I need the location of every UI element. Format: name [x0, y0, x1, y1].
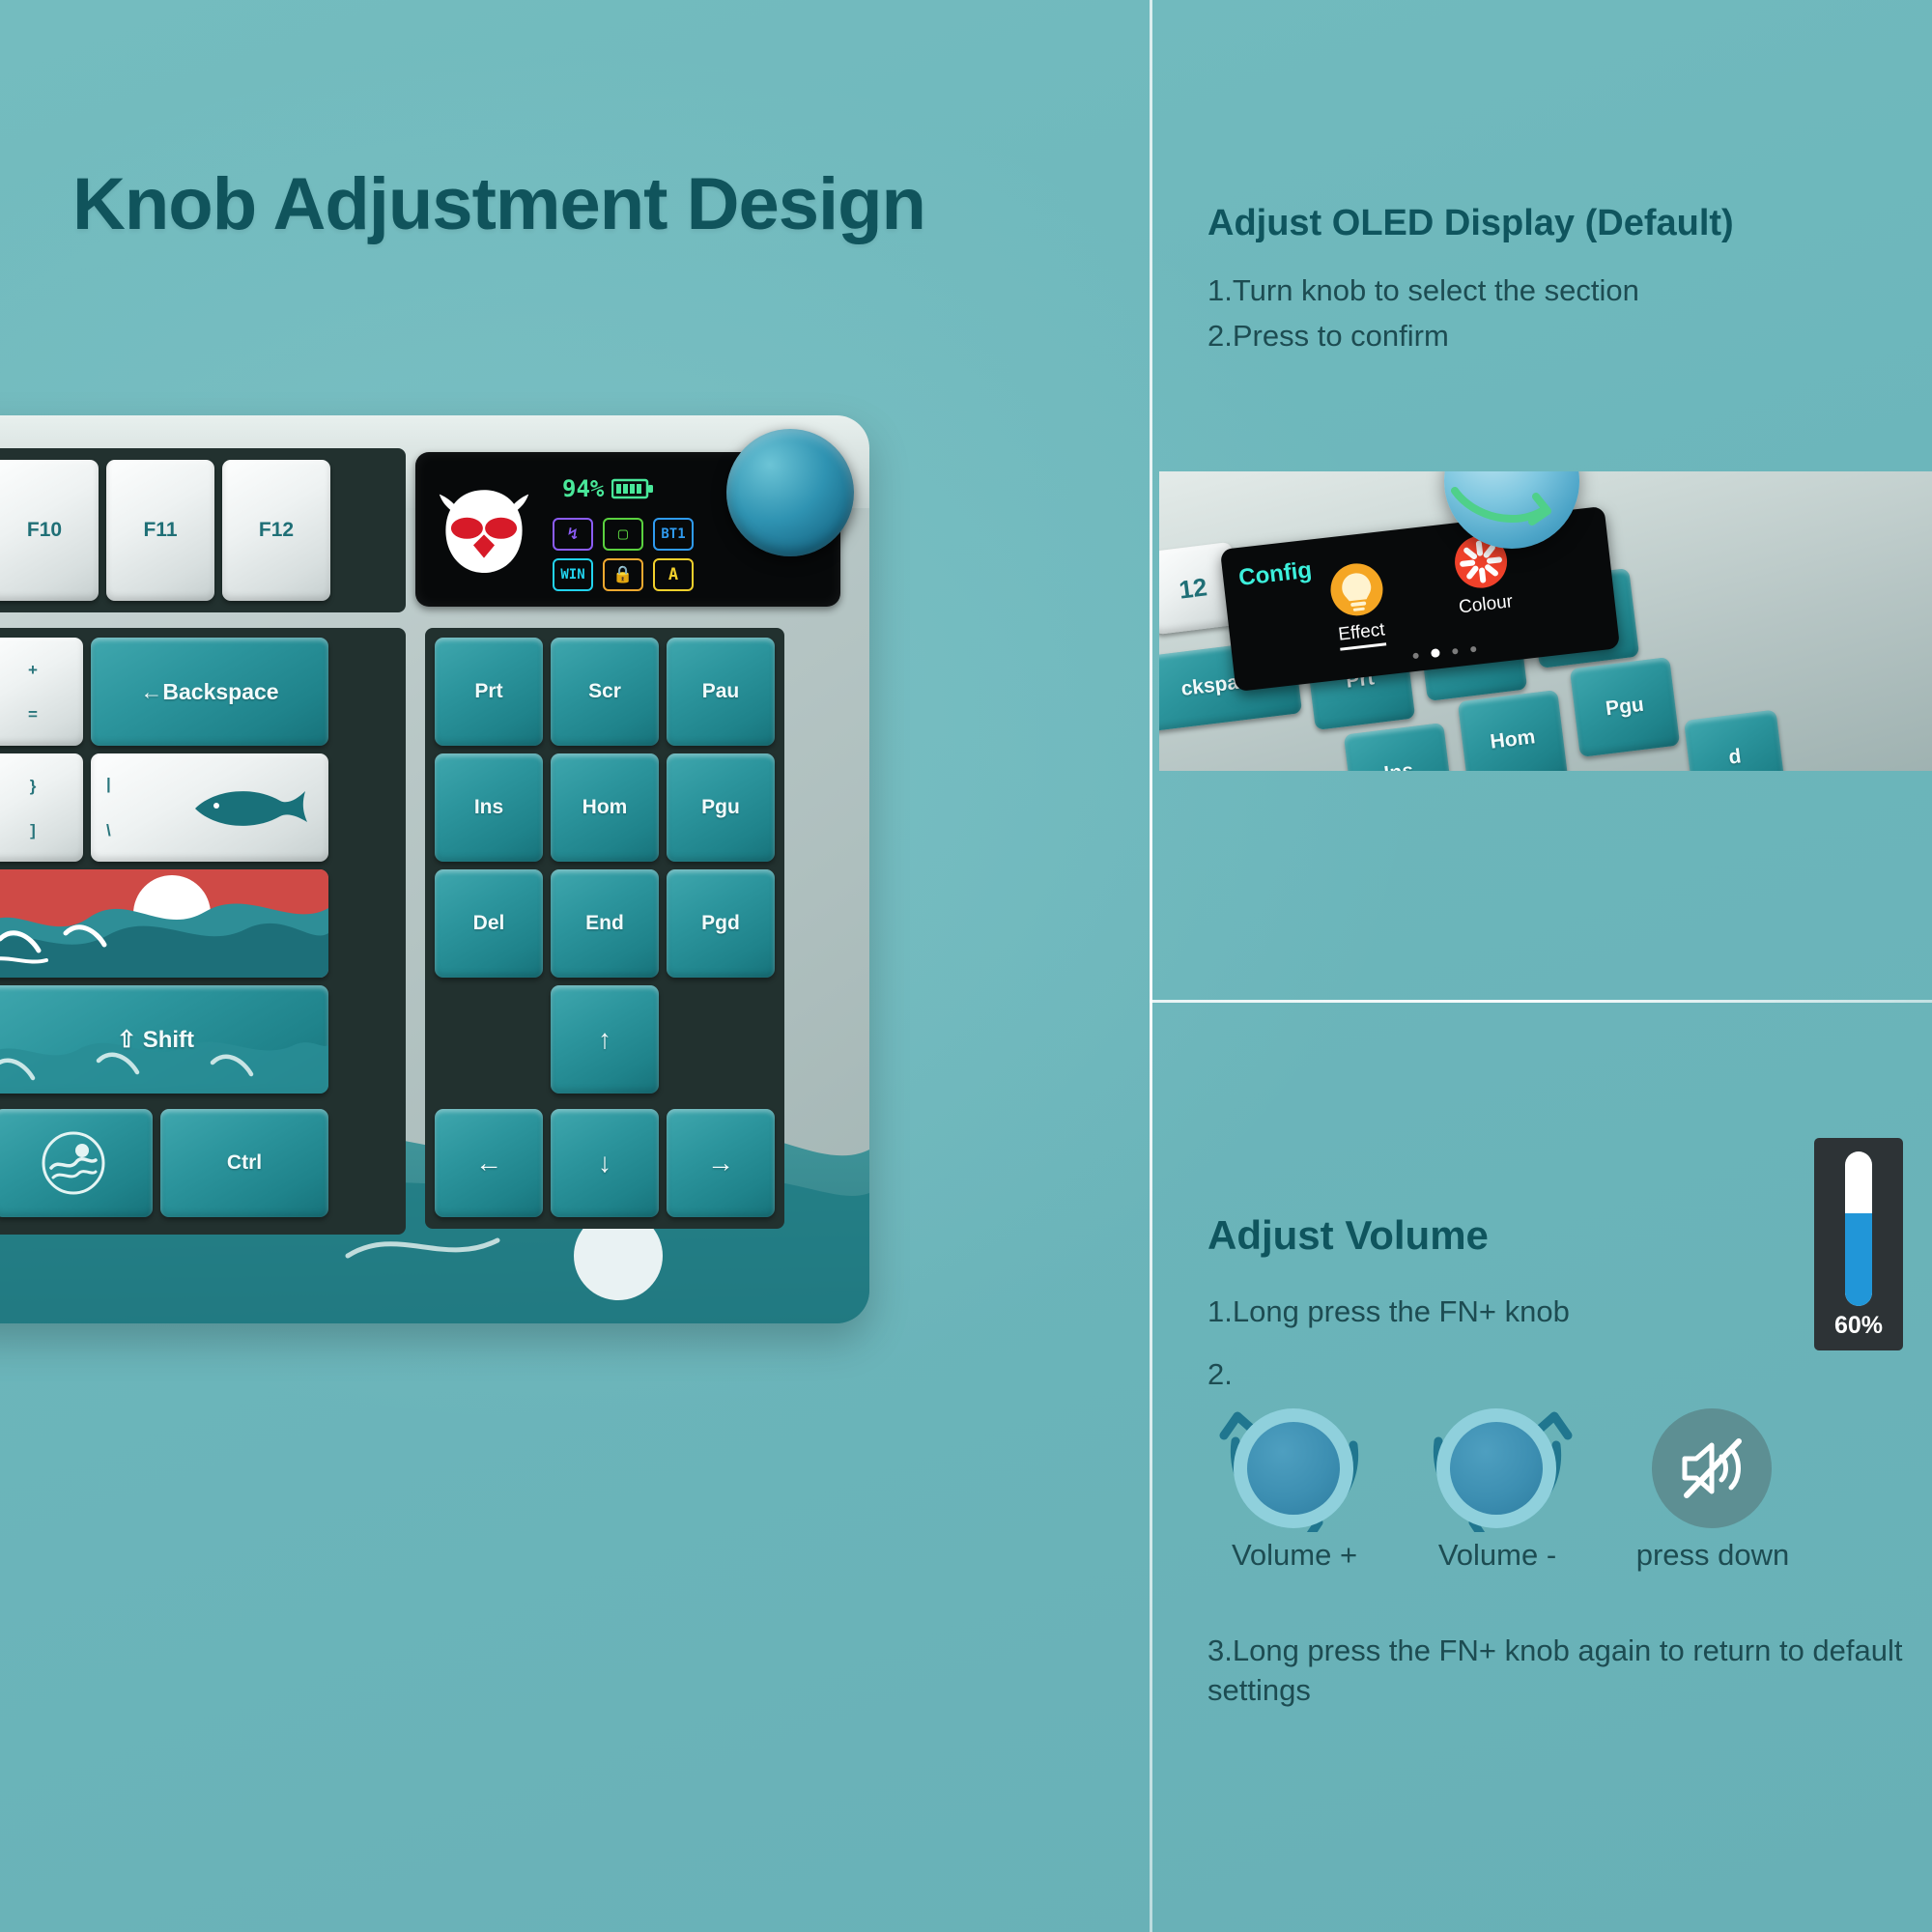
key-wave-art[interactable]: [0, 869, 328, 978]
volume-slider-track[interactable]: [1845, 1151, 1872, 1306]
rotary-knob[interactable]: [726, 429, 854, 556]
oled-step-2: 2.Press to confirm: [1207, 319, 1449, 354]
volume-percent-label: 60%: [1834, 1312, 1883, 1340]
key-arrow-down[interactable]: ↓: [551, 1109, 659, 1217]
key-label: Ctrl: [227, 1151, 262, 1175]
oled-page-dots: [1412, 644, 1477, 660]
volume-knob[interactable]: [1234, 1408, 1353, 1528]
key-arrow-right[interactable]: →: [667, 1109, 775, 1217]
key-ctrl[interactable]: Ctrl: [160, 1109, 328, 1217]
wave-logo-icon: [40, 1129, 107, 1197]
key-pgu[interactable]: Pgu: [667, 753, 775, 862]
key-f12[interactable]: F12: [222, 460, 330, 601]
oled-config-photo: 12 ckspace Prt Scr Pau Ins Hom Pgu: [1159, 471, 1932, 771]
battery-icon: [611, 477, 656, 500]
oled-config-title: Config: [1237, 557, 1314, 592]
key-label: Hom: [582, 796, 628, 819]
mute-button[interactable]: [1652, 1408, 1772, 1528]
key-label: +: [28, 661, 38, 680]
key-label: Prt: [474, 680, 502, 703]
key-label: Pgu: [701, 796, 740, 819]
mute-speaker-icon: [1671, 1428, 1752, 1509]
key-label: 12: [1178, 572, 1208, 605]
volume-step-1: 1.Long press the FN+ knob: [1207, 1294, 1570, 1329]
oled-panel-heading: Adjust OLED Display (Default): [1207, 203, 1734, 244]
key-label: Ins: [1382, 759, 1414, 771]
volume-knob[interactable]: [1436, 1408, 1556, 1528]
key-label: Scr: [588, 680, 621, 703]
key-shift[interactable]: ⇧ Shift: [0, 985, 328, 1094]
volume-knob-inner: [1450, 1422, 1543, 1515]
volume-level-indicator: 60%: [1814, 1138, 1903, 1350]
key-pgd[interactable]: Pgd: [667, 869, 775, 978]
key-arrow-up[interactable]: ↑: [551, 985, 659, 1094]
key-right-brace[interactable]: } ]: [0, 753, 83, 862]
oled-menu-label: Colour: [1432, 588, 1540, 621]
key-backspace[interactable]: ←Backspace: [91, 638, 328, 746]
oled-status-badges: ↯ ▢ BT1 WIN 🔒 A: [553, 518, 707, 595]
inset-key-pgu[interactable]: Pgu: [1570, 657, 1680, 757]
vertical-divider-main: [1150, 0, 1152, 1932]
key-arrow-left[interactable]: ←: [435, 1109, 543, 1217]
key-hom[interactable]: Hom: [551, 753, 659, 862]
key-label-alt: =: [28, 705, 38, 724]
horizontal-divider-right: [1150, 1000, 1932, 1003]
key-label: F11: [143, 519, 177, 542]
volume-step-3: 3.Long press the FN+ knob again to retur…: [1207, 1631, 1922, 1710]
key-label: Pau: [702, 680, 740, 703]
page-dot-active: [1431, 648, 1440, 658]
page-dot: [1470, 645, 1477, 652]
key-label: F10: [27, 519, 62, 542]
key-label: ⇧ Shift: [117, 1026, 194, 1054]
fish-icon: [187, 780, 313, 836]
key-label: Ins: [474, 796, 503, 819]
battery-percent: 94%: [562, 475, 604, 502]
press-down-label: press down: [1631, 1538, 1795, 1573]
volume-down-control[interactable]: Volume -: [1415, 1403, 1579, 1586]
a-badge: A: [653, 558, 694, 591]
key-label: |: [106, 775, 111, 794]
page-dot: [1452, 647, 1459, 654]
key-f10[interactable]: F10: [0, 460, 99, 601]
volume-knob-inner: [1247, 1422, 1340, 1515]
page-title: Knob Adjustment Design: [72, 162, 925, 246]
lightbulb-icon: [1325, 558, 1387, 620]
volume-up-label: Volume +: [1212, 1538, 1377, 1573]
key-label-alt: ]: [30, 821, 36, 840]
inset-key-hom[interactable]: Hom: [1458, 690, 1568, 771]
key-end[interactable]: End: [551, 869, 659, 978]
oled-menu-label: Effect: [1337, 619, 1386, 650]
volume-slider-fill: [1845, 1213, 1872, 1306]
keyboard-case: 94% ↯ ▢ BT1: [0, 415, 869, 1323]
caps-lock-icon: 🔒: [603, 558, 643, 591]
usb-icon: ↯: [553, 518, 593, 551]
owl-logo-icon: [431, 477, 537, 583]
key-label: ←: [475, 1148, 502, 1179]
key-f11[interactable]: F11: [106, 460, 214, 601]
key-label: →: [707, 1148, 734, 1179]
oled-menu-item-effect[interactable]: Effect: [1306, 556, 1412, 654]
key-label: ↓: [598, 1148, 611, 1179]
key-del[interactable]: Del: [435, 869, 543, 978]
oled-step-1: 1.Turn knob to select the section: [1207, 273, 1639, 308]
bt1-badge: BT1: [653, 518, 694, 551]
volume-step-2-number: 2.: [1207, 1357, 1233, 1392]
inset-key-pgd[interactable]: d: [1684, 709, 1786, 771]
key-label: Hom: [1489, 725, 1536, 754]
key-label: Pgu: [1605, 694, 1645, 722]
key-backslash-fish[interactable]: | \: [91, 753, 328, 862]
key-prt[interactable]: Prt: [435, 638, 543, 746]
key-plus[interactable]: + =: [0, 638, 83, 746]
key-label: Del: [473, 912, 505, 935]
page-dot: [1412, 652, 1419, 659]
volume-panel-heading: Adjust Volume: [1207, 1212, 1489, 1259]
mute-control[interactable]: press down: [1631, 1403, 1795, 1586]
key-pau[interactable]: Pau: [667, 638, 775, 746]
volume-up-control[interactable]: Volume +: [1212, 1403, 1377, 1586]
inset-key-ins[interactable]: Ins: [1344, 723, 1454, 771]
key-ins[interactable]: Ins: [435, 753, 543, 862]
key-label: F12: [259, 519, 294, 542]
volume-down-label: Volume -: [1415, 1538, 1579, 1573]
knob-rotation-arrows: [1391, 471, 1642, 566]
keyboard-photo: 94% ↯ ▢ BT1: [0, 415, 908, 1333]
key-scr[interactable]: Scr: [551, 638, 659, 746]
key-wave-logo[interactable]: [0, 1109, 153, 1217]
key-label: ↑: [598, 1024, 611, 1055]
key-label: End: [585, 912, 624, 935]
key-label-alt: \: [106, 821, 111, 840]
key-label: }: [30, 777, 37, 796]
key-label: Pgd: [701, 912, 740, 935]
key-label: d: [1727, 745, 1743, 769]
win-badge: WIN: [553, 558, 593, 591]
battery-status: 94%: [562, 475, 656, 502]
bluetooth-icon: ▢: [603, 518, 643, 551]
infographic-page: Knob Adjustment Design: [0, 0, 1932, 1932]
inset-keyboard-case: 12 ckspace Prt Scr Pau Ins Hom Pgu: [1159, 471, 1932, 771]
key-label: ←Backspace: [140, 679, 278, 705]
